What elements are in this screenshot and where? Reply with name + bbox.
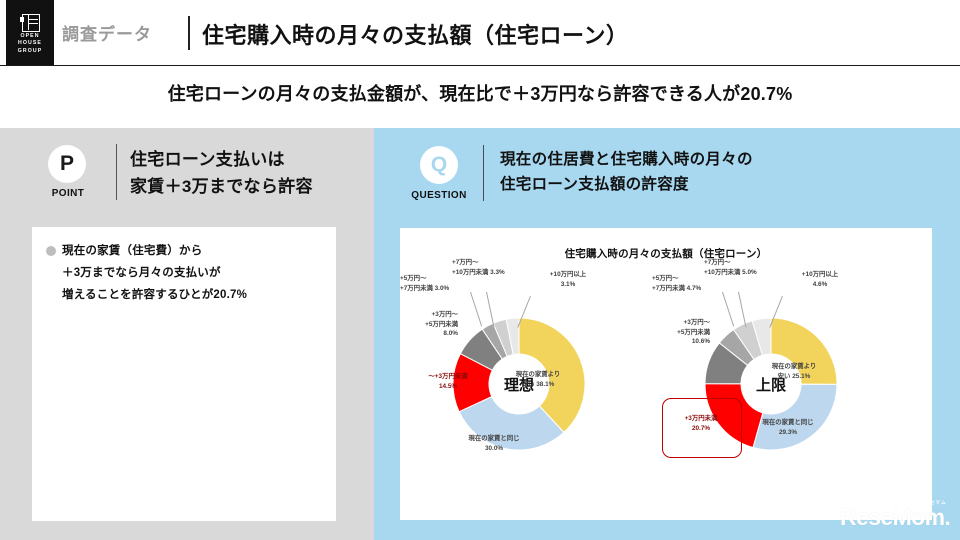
slice-label-plus3-limit: +3万円未満 20.7% [670,414,732,433]
slice-label-plus5to7-ideal: +5万円〜 +7万円未満 3.0% [400,274,449,293]
slice-label-plus10-limit: +10万円以上 4.6% [790,270,850,289]
resemom-watermark-sub: リセマム [924,500,947,506]
page-title: 住宅購入時の月々の支払額（住宅ローン） [202,18,628,50]
logo-line-3: GROUP [18,48,43,55]
slice-label-plus3-ideal: 〜+3万円未満 14.5% [422,372,474,391]
slice-label-plus3to5-ideal: +3万円〜 +5万円未満 8.0% [392,310,458,339]
slice-label-plus5to7-limit: +5万円〜 +7万円未満 4.7% [652,274,701,293]
point-divider [116,144,117,200]
building-icon [20,12,40,32]
header-divider [188,16,190,50]
logo-line-1: OPEN [20,33,39,40]
slice-label-plus10-ideal: +10万円以上 3.1% [538,270,598,289]
bullet-icon [46,246,56,256]
question-heading-line-2: 住宅ローン支払額の許容度 [500,172,753,197]
question-heading-line-1: 現在の住居費と住宅購入時の月々の [500,147,753,172]
slice-label-same-ideal: 現在の家賃と同じ 30.0% [456,434,532,453]
header-kicker: 調査データ [62,20,152,45]
lede-statement: 住宅ローンの月々の支払金額が、現在比で＋3万円なら許容できる人が20.7% [0,80,960,106]
slice-label-cheaper-ideal: 現在の家賃より 安い 38.1% [506,370,570,389]
header-rule [0,65,960,66]
point-card-line-1: 現在の家賃（住宅費）から [62,240,247,262]
question-badge: Q [420,146,458,184]
point-heading: 住宅ローン支払いは 家賃＋3万までなら許容 [130,146,313,200]
header-bar: OPEN HOUSE GROUP 調査データ 住宅購入時の月々の支払額（住宅ロー… [0,0,960,66]
question-caption: QUESTION [406,190,472,201]
resemom-watermark: ReseMom. [840,506,950,529]
donut-chart-ideal: 理想 +5万円〜 +7万円未満 3.0% +7万円〜 +10万円未満 3.3% … [414,314,624,486]
point-caption: POINT [40,188,96,199]
slice-label-plus3to5-limit: +3万円〜 +5万円未満 10.6% [644,318,710,347]
point-heading-line-2: 家賃＋3万までなら許容 [130,173,313,200]
point-card: 現在の家賃（住宅費）から ＋3万までなら月々の支払いが 増えることを許容するひと… [32,227,336,521]
question-heading: 現在の住居費と住宅購入時の月々の 住宅ローン支払額の許容度 [500,147,753,197]
point-heading-line-1: 住宅ローン支払いは [130,146,313,173]
point-card-line-3: 増えることを許容するひとが20.7% [62,284,247,306]
point-card-line-2: ＋3万までなら月々の支払いが [62,262,247,284]
chart-card: 住宅購入時の月々の支払額（住宅ローン） 理想 +5万円〜 +7万円未満 3.0%… [400,228,932,520]
question-divider [483,145,484,201]
slice-label-plus7to10-limit: +7万円〜 +10万円未満 5.0% [704,258,757,277]
slice-label-same-limit: 現在の家賃と同じ 29.3% [750,418,826,437]
point-badge: P [48,145,86,183]
logo-line-2: HOUSE [18,40,42,47]
slice-label-plus7to10-ideal: +7万円〜 +10万円未満 3.3% [452,258,505,277]
slice-label-cheaper-limit: 現在の家賃より 安い 25.1% [762,362,826,381]
donut-chart-limit: 上限 +5万円〜 +7万円未満 4.7% +7万円〜 +10万円未満 5.0% … [666,314,876,486]
openhouse-group-logo: OPEN HOUSE GROUP [6,0,54,66]
point-card-text: 現在の家賃（住宅費）から ＋3万までなら月々の支払いが 増えることを許容するひと… [62,240,247,306]
slide-root: OPEN HOUSE GROUP 調査データ 住宅購入時の月々の支払額（住宅ロー… [0,0,960,540]
